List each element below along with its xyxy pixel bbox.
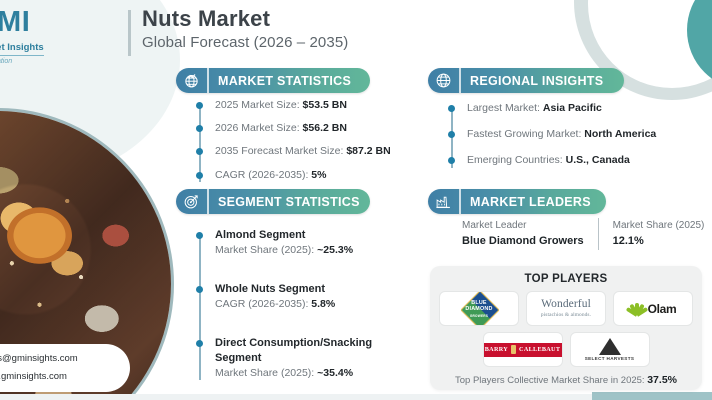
list-item: CAGR (2026-2035): 5% xyxy=(199,168,391,183)
stat-value: $56.2 BN xyxy=(303,122,347,134)
bullet-dot xyxy=(448,131,455,138)
player-logo-barry-callebaut[interactable]: BARRY CALLEBAUT xyxy=(483,332,563,367)
list-market-statistics: 2025 Market Size: $53.5 BN 2026 Market S… xyxy=(199,98,391,191)
stat-value: ~35.4% xyxy=(317,367,353,379)
stat-label: Emerging Countries: xyxy=(467,154,566,166)
list-item: Largest Market: Asia Pacific xyxy=(451,101,656,116)
logo-tagline: o Innovation xyxy=(0,58,84,65)
select-harvests-wordmark: SELECT HARVESTS xyxy=(585,356,635,361)
blue-diamond-line3: GROWERS xyxy=(455,314,503,318)
player-logo-select-harvests[interactable]: SELECT HARVESTS xyxy=(570,332,650,367)
page-title: Nuts Market xyxy=(142,6,348,31)
segment-title: Almond Segment xyxy=(215,228,387,243)
contact-pill: es@gminsights.com w.gminsights.com xyxy=(0,344,130,392)
blue-diamond-logo-art: BLUE DIAMOND GROWERS xyxy=(455,296,503,322)
section-label-regional-insights: REGIONAL INSIGHTS xyxy=(461,74,603,88)
divider-icon xyxy=(511,345,516,354)
barry-callebaut-line2: CALLEBAUT xyxy=(519,346,560,353)
bullet-dot xyxy=(448,105,455,112)
list-item: Fastest Growing Market: North America xyxy=(451,127,656,142)
stat-label: 2025 Market Size: xyxy=(215,99,303,111)
stat-value: ~25.3% xyxy=(317,244,353,256)
market-leader-value: Blue Diamond Growers xyxy=(462,233,584,250)
top-players-footer-label: Top Players Collective Market Share in 2… xyxy=(455,375,647,386)
stat-value: 5.8% xyxy=(311,298,335,310)
wonderful-line2: pistachios & almonds. xyxy=(541,312,591,318)
market-share-value: 12.1% xyxy=(613,233,705,250)
section-label-market-statistics: MARKET STATISTICS xyxy=(209,74,351,88)
top-players-row-2: BARRY CALLEBAUT SELECT HARVESTS xyxy=(430,332,702,367)
list-item: 2035 Forecast Market Size: $87.2 BN xyxy=(199,144,391,159)
stat-label: 2035 Forecast Market Size: xyxy=(215,145,346,157)
bottom-accent-bar xyxy=(592,392,712,400)
list-item: 2026 Market Size: $56.2 BN xyxy=(199,121,391,136)
top-players-title: TOP PLAYERS xyxy=(430,273,702,285)
globe-icon xyxy=(428,68,461,93)
stat-label: CAGR (2026-2035): xyxy=(215,298,311,310)
player-logo-olam[interactable]: Olam xyxy=(613,291,693,326)
bullet-dot xyxy=(196,148,203,155)
stat-label: CAGR (2026-2035): xyxy=(215,169,311,181)
bullet-dot xyxy=(196,286,203,293)
bullet-dot xyxy=(196,340,203,347)
section-label-segment-statistics: SEGMENT STATISTICS xyxy=(209,195,360,209)
contact-email[interactable]: es@gminsights.com xyxy=(0,350,130,368)
olam-logo-art: Olam xyxy=(630,301,677,316)
logo-wordmark: GMI xyxy=(0,8,84,37)
bullet-dot xyxy=(196,102,203,109)
section-header-market-leaders: MARKET LEADERS xyxy=(428,189,606,214)
stat-label: 2026 Market Size: xyxy=(215,122,303,134)
triangle-icon xyxy=(599,338,621,355)
bullet-dot xyxy=(196,172,203,179)
market-share-column: Market Share (2025) 12.1% xyxy=(598,218,712,250)
barry-callebaut-logo-art: BARRY CALLEBAUT xyxy=(483,343,563,357)
section-header-regional-insights: REGIONAL INSIGHTS xyxy=(428,68,624,93)
list-item: 2025 Market Size: $53.5 BN xyxy=(199,98,391,113)
stat-value: U.S., Canada xyxy=(566,154,630,166)
list-item: Whole Nuts Segment CAGR (2026-2035): 5.8… xyxy=(199,282,387,312)
bullet-dot xyxy=(196,232,203,239)
contact-website[interactable]: w.gminsights.com xyxy=(0,368,130,386)
stat-label: Market Share (2025): xyxy=(215,367,317,379)
top-players-card: TOP PLAYERS BLUE DIAMOND GROWERS Wonderf… xyxy=(430,266,702,390)
stat-value: Asia Pacific xyxy=(543,102,602,114)
top-players-footer: Top Players Collective Market Share in 2… xyxy=(430,374,702,386)
segment-title: Whole Nuts Segment xyxy=(215,282,387,297)
page-title-block: Nuts Market Global Forecast (2026 – 2035… xyxy=(128,6,348,51)
gmi-logo: GMI Market Insights o Innovation xyxy=(0,8,84,64)
page-subtitle: Global Forecast (2026 – 2035) xyxy=(142,34,348,51)
olam-wordmark: Olam xyxy=(648,302,677,316)
bullet-dot xyxy=(448,157,455,164)
infographic-canvas: GMI Market Insights o Innovation Nuts Ma… xyxy=(0,0,712,400)
section-label-market-leaders: MARKET LEADERS xyxy=(461,195,591,209)
stat-label: Largest Market: xyxy=(467,102,543,114)
stat-value: North America xyxy=(584,128,656,140)
top-players-footer-value: 37.5% xyxy=(647,374,677,386)
stat-label: Fastest Growing Market: xyxy=(467,128,584,140)
factory-icon xyxy=(428,189,461,214)
stat-label: Market Share (2025): xyxy=(215,244,317,256)
section-header-segment-statistics: SEGMENT STATISTICS xyxy=(176,189,370,214)
select-harvests-logo-art: SELECT HARVESTS xyxy=(585,338,635,361)
section-header-market-statistics: MARKET STATISTICS xyxy=(176,68,370,93)
top-players-row-1: BLUE DIAMOND GROWERS Wonderful pistachio… xyxy=(430,291,702,326)
stat-value: 5% xyxy=(311,169,326,181)
olam-leaf-icon xyxy=(630,301,645,316)
market-leader-column: Market Leader Blue Diamond Growers xyxy=(462,218,598,250)
market-leader-caption: Market Leader xyxy=(462,218,584,233)
market-share-caption: Market Share (2025) xyxy=(613,218,705,233)
wonderful-logo-art: Wonderful pistachios & almonds. xyxy=(541,299,591,318)
list-item: Emerging Countries: U.S., Canada xyxy=(451,153,656,168)
target-segment-icon xyxy=(176,189,209,214)
list-item: Almond Segment Market Share (2025): ~25.… xyxy=(199,228,387,258)
globe-chart-icon xyxy=(176,68,209,93)
logo-subtitle: Market Insights xyxy=(0,42,44,56)
list-segment-statistics: Almond Segment Market Share (2025): ~25.… xyxy=(199,228,387,389)
title-divider-bar xyxy=(128,10,131,56)
player-logo-blue-diamond[interactable]: BLUE DIAMOND GROWERS xyxy=(439,291,519,326)
list-item: Direct Consumption/Snacking Segment Mark… xyxy=(199,336,387,381)
stat-value: $53.5 BN xyxy=(303,99,347,111)
segment-title: Direct Consumption/Snacking Segment xyxy=(215,336,387,366)
barry-callebaut-line1: BARRY xyxy=(485,346,508,353)
blue-diamond-line2: DIAMOND xyxy=(455,307,503,313)
market-leaders-body: Market Leader Blue Diamond Growers Marke… xyxy=(462,218,712,250)
bullet-dot xyxy=(196,125,203,132)
stat-value: $87.2 BN xyxy=(346,145,390,157)
list-regional-insights: Largest Market: Asia Pacific Fastest Gro… xyxy=(451,101,656,177)
player-logo-wonderful[interactable]: Wonderful pistachios & almonds. xyxy=(526,291,606,326)
wonderful-line1: Wonderful xyxy=(541,299,591,311)
